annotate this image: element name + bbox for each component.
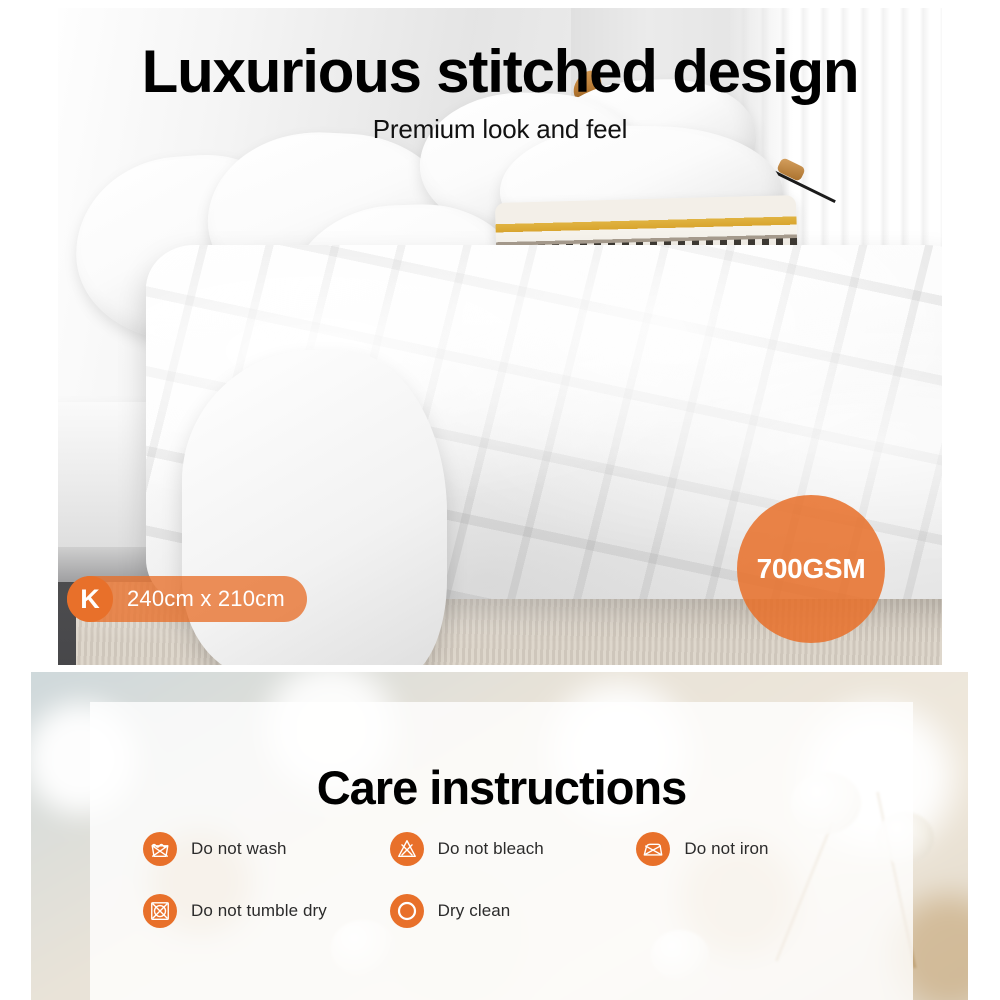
size-badge: K 240cm x 210cm xyxy=(67,576,307,622)
page-title: Luxurious stitched design xyxy=(58,42,942,102)
do-not-iron-icon xyxy=(636,832,670,866)
size-badge-dimensions: 240cm x 210cm xyxy=(113,586,285,612)
care-item-label: Do not bleach xyxy=(438,839,544,859)
care-item-label: Do not wash xyxy=(191,839,287,859)
care-instructions-section: Care instructions Do not wash xyxy=(31,672,968,1000)
care-item-label: Do not tumble dry xyxy=(191,901,327,921)
do-not-tumble-dry-icon xyxy=(143,894,177,928)
dry-clean-icon xyxy=(390,894,424,928)
gsm-badge: 700GSM xyxy=(737,495,885,643)
care-item-dry-clean: Dry clean xyxy=(390,894,637,928)
care-item-label: Do not iron xyxy=(684,839,768,859)
care-items-grid: Do not wash Do not bleach xyxy=(143,832,883,928)
care-item-do-not-bleach: Do not bleach xyxy=(390,832,637,866)
care-item-do-not-wash: Do not wash xyxy=(143,832,390,866)
care-title: Care instructions xyxy=(90,760,913,815)
do-not-bleach-icon xyxy=(390,832,424,866)
do-not-wash-icon xyxy=(143,832,177,866)
care-item-do-not-tumble-dry: Do not tumble dry xyxy=(143,894,390,928)
size-badge-letter: K xyxy=(67,576,113,622)
page-subtitle: Premium look and feel xyxy=(58,114,942,145)
care-instructions-panel: Care instructions Do not wash xyxy=(90,702,913,1000)
care-item-label: Dry clean xyxy=(438,901,511,921)
care-item-do-not-iron: Do not iron xyxy=(636,832,883,866)
product-marketing-image: Luxurious stitched design Premium look a… xyxy=(0,0,1000,1000)
